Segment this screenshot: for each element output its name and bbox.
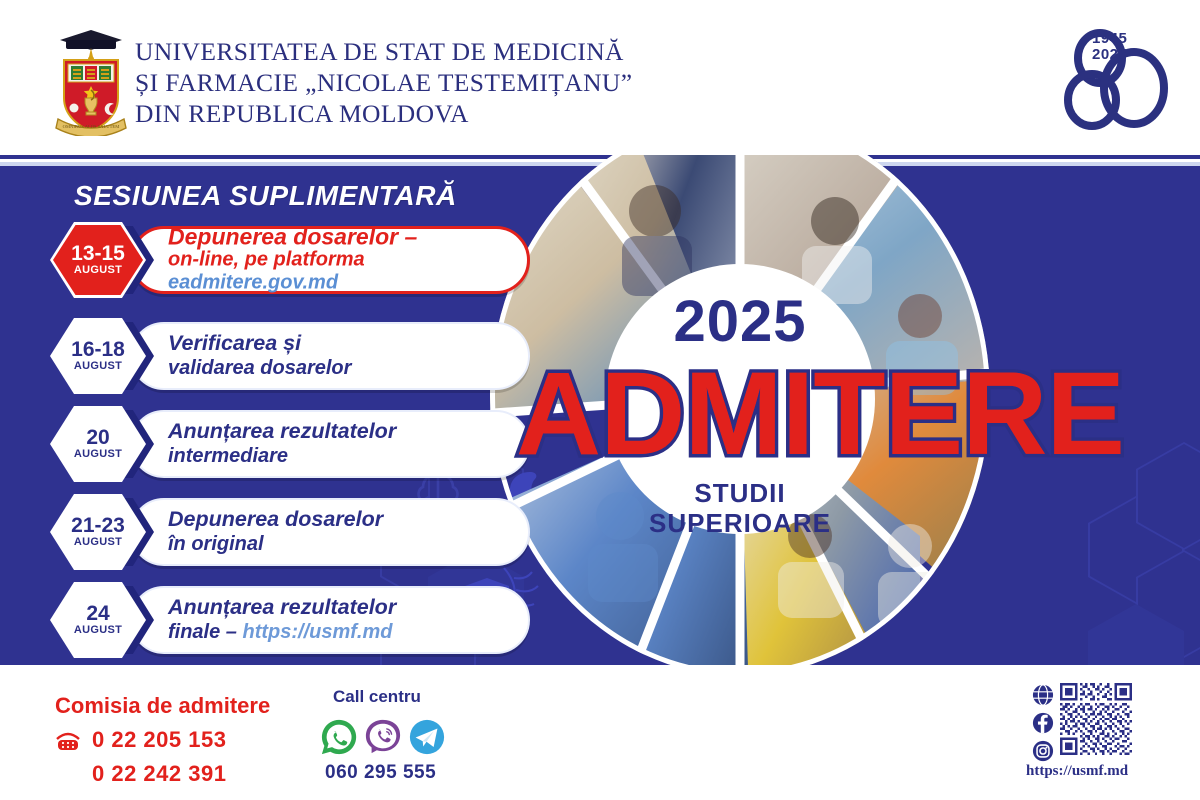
admission-subtitle-line2: SUPERIOARE (490, 508, 990, 538)
university-title-line-2: ȘI FARMACIE „NICOLAE TESTEMIȚANU” (135, 67, 755, 98)
session-title: SESIUNEA SUPLIMENTARĂ (74, 180, 457, 212)
timeline-date-2: 16-18 (71, 339, 125, 360)
admission-year: 2025 (490, 288, 990, 355)
timeline-date-4: 21-23 (71, 515, 125, 536)
university-title-line-3: DIN REPUBLICA MOLDOVA (135, 98, 755, 129)
admission-subtitle: STUDII SUPERIOARE (490, 478, 990, 538)
commission-phone-1[interactable]: 0 22 205 153 (92, 727, 226, 753)
globe-icon[interactable] (1032, 684, 1054, 706)
svg-text:OMNIBUS ALIIS SALUTEM: OMNIBUS ALIIS SALUTEM (63, 124, 120, 129)
whatsapp-icon[interactable] (320, 718, 358, 756)
timeline-text-2-line1: Verificarea și (168, 331, 301, 355)
telephone-icon (55, 730, 81, 752)
timeline-text-5-line1: Anunțarea rezultatelor (168, 595, 396, 619)
call-center-number[interactable]: 060 295 555 (325, 762, 436, 784)
poster-header: OMNIBUS ALIIS SALUTEM UNIVERSITATEA DE S… (0, 0, 1200, 155)
timeline-text-5-line2: finale – (168, 621, 242, 643)
timeline-text-4-line1: Depunerea dosarelor (168, 507, 383, 531)
timeline-month-2: AUGUST (74, 360, 122, 373)
timeline-text-3-line1: Anunțarea rezultatelor (168, 419, 396, 443)
admission-subtitle-line1: STUDII (490, 478, 990, 508)
timeline-date-5: 24 (86, 603, 109, 624)
timeline-month-1: AUGUST (74, 264, 122, 277)
admission-poster: OMNIBUS ALIIS SALUTEM UNIVERSITATEA DE S… (0, 0, 1200, 800)
qr-code[interactable] (1060, 683, 1132, 755)
timeline-text-5: Anunțarea rezultatelor finale – https://… (168, 595, 524, 645)
timeline-month-5: AUGUST (74, 624, 122, 637)
timeline-date-3: 20 (86, 427, 109, 448)
timeline-month-4: AUGUST (74, 536, 122, 549)
timeline-text-1-line1: Depunerea dosarelor – (168, 224, 417, 250)
telegram-icon[interactable] (408, 718, 446, 756)
website-url[interactable]: https://usmf.md (1026, 763, 1128, 780)
timeline-date-1: 13-15 (71, 243, 125, 264)
timeline-text-1: Depunerea dosarelor – on-line, pe platfo… (168, 226, 524, 295)
timeline-text-4: Depunerea dosarelor în original (168, 507, 524, 557)
viber-icon[interactable] (364, 718, 402, 756)
admission-headline: ADMITERE (470, 355, 1170, 473)
anniversary-year-from: 1945 (1092, 31, 1127, 47)
timeline-link-1[interactable]: eadmitere.gov.md (168, 272, 524, 295)
university-crest-icon: OMNIBUS ALIIS SALUTEM (52, 24, 130, 136)
timeline-month-3: AUGUST (74, 448, 122, 461)
anniversary-years: 1945 2025 (1092, 31, 1127, 63)
anniversary-year-to: 2025 (1092, 47, 1127, 63)
call-center-title: Call centru (333, 687, 421, 707)
facebook-icon[interactable] (1032, 712, 1054, 734)
timeline-text-1-line2: on-line, pe platforma (168, 249, 524, 272)
university-title: UNIVERSITATEA DE STAT DE MEDICINĂ ȘI FAR… (135, 36, 755, 129)
timeline-link-5[interactable]: https://usmf.md (242, 621, 392, 643)
timeline-text-4-line2: în original (168, 532, 524, 557)
commission-phone-2[interactable]: 0 22 242 391 (92, 761, 226, 787)
university-title-line-1: UNIVERSITATEA DE STAT DE MEDICINĂ (135, 36, 755, 67)
commission-title: Comisia de admitere (55, 693, 270, 719)
instagram-icon[interactable] (1032, 740, 1054, 762)
